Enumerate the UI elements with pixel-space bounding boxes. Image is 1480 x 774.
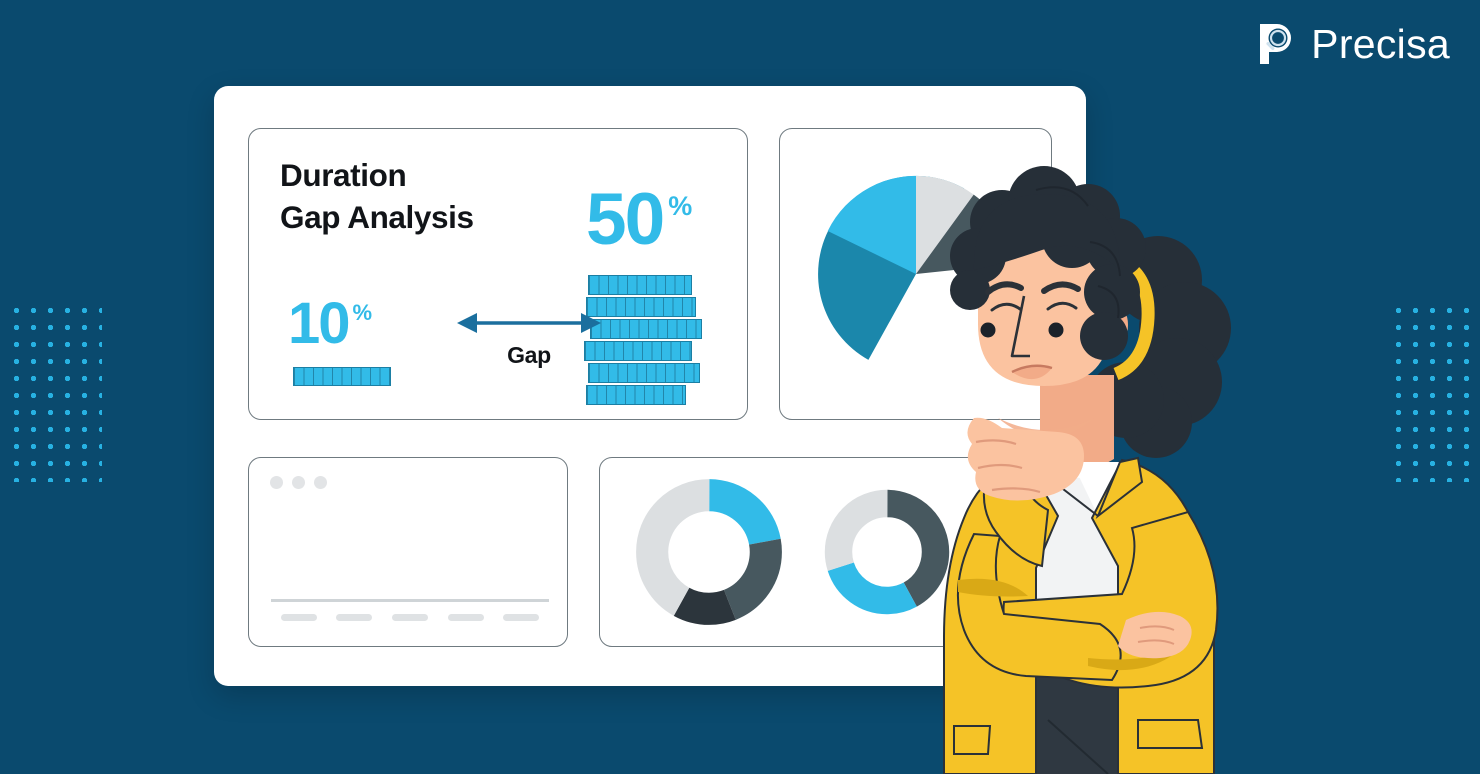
stat-high-value: 50 xyxy=(586,189,663,251)
donut-segment-gray xyxy=(838,503,935,600)
x-tick-label xyxy=(336,614,372,621)
stat-low-value: 10 xyxy=(288,299,349,348)
coin-stack-high xyxy=(586,275,698,407)
coin-row xyxy=(586,297,696,317)
bar-chart-card xyxy=(248,457,568,647)
gap-indicator: Gap xyxy=(457,311,601,369)
stat-low: 10 % xyxy=(288,299,372,348)
brand-name: Precisa xyxy=(1311,24,1450,65)
thinking-businesswoman-illustration xyxy=(940,160,1270,774)
dot-pattern-left xyxy=(6,300,102,482)
title-line-2: Gap Analysis xyxy=(280,199,474,235)
stat-high-suffix: % xyxy=(668,193,692,220)
x-axis xyxy=(271,599,549,602)
donut-row xyxy=(600,458,984,646)
eye-left xyxy=(981,323,996,338)
coin-row xyxy=(588,275,692,295)
double-arrow-icon xyxy=(457,311,601,335)
hand-tucked xyxy=(1118,612,1192,658)
stat-low-suffix: % xyxy=(353,302,373,324)
stat-high: 50 % xyxy=(586,189,692,251)
coin-row xyxy=(586,385,686,405)
donut-segment-gray xyxy=(652,495,766,609)
dot-pattern-right xyxy=(1388,300,1480,482)
page-title: Duration Gap Analysis xyxy=(280,155,474,238)
bar-chart-plot xyxy=(271,502,549,629)
coin-row xyxy=(590,319,702,339)
x-tick-label xyxy=(281,614,317,621)
donut-chart-left xyxy=(634,477,784,627)
donut-chart-card xyxy=(599,457,985,647)
x-tick-label xyxy=(448,614,484,621)
gap-label: Gap xyxy=(457,342,601,369)
precisa-p-magnifier-logo-icon xyxy=(1257,22,1297,66)
eye-right xyxy=(1049,323,1064,338)
x-tick-label xyxy=(503,614,539,621)
x-tick-labels xyxy=(271,614,549,621)
coin-row xyxy=(588,363,700,383)
donut-chart-right xyxy=(823,488,951,616)
title-line-1: Duration xyxy=(280,157,406,193)
duration-gap-card: Duration Gap Analysis 50 % 10 % xyxy=(248,128,748,420)
coin-stack-low xyxy=(293,367,391,386)
brand-logo: Precisa xyxy=(1257,22,1450,66)
bar-groups xyxy=(271,474,549,601)
x-tick-label xyxy=(392,614,428,621)
